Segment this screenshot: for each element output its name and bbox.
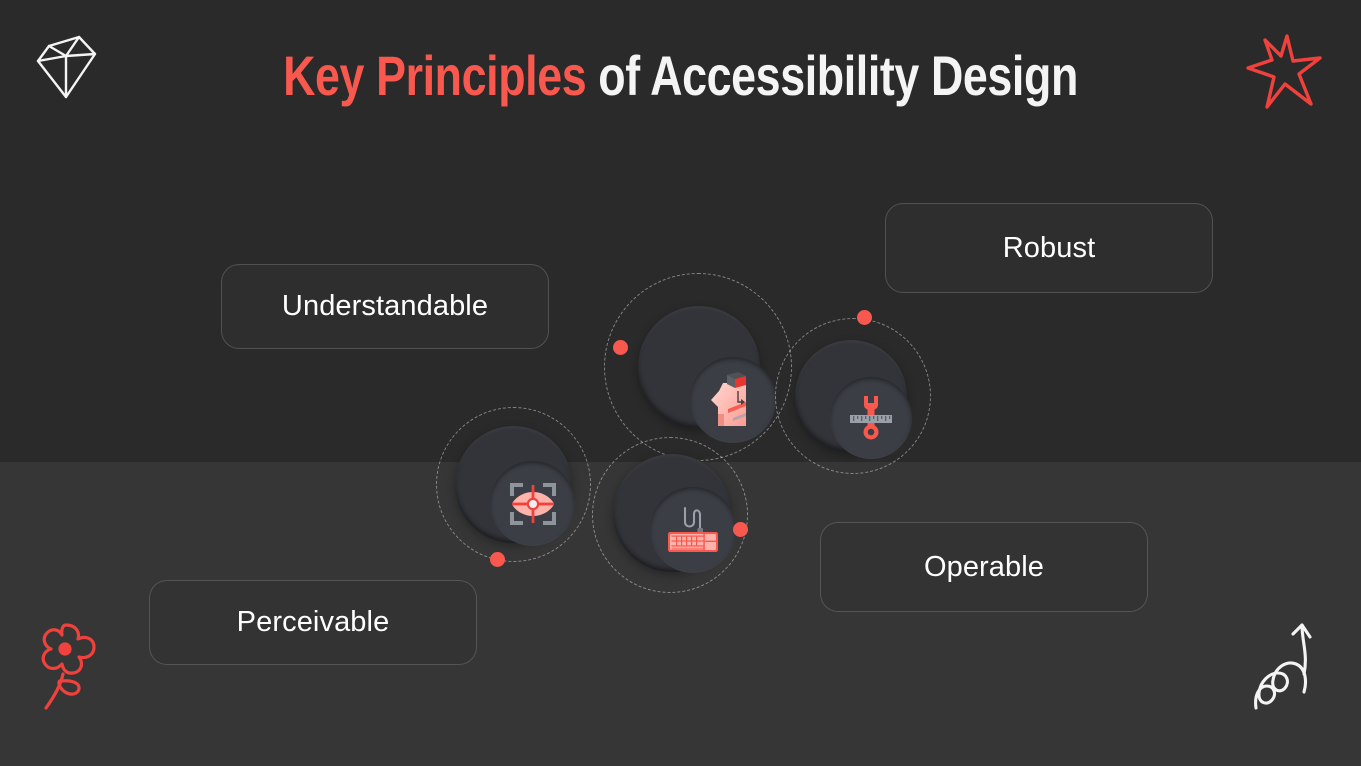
principle-card-robust[interactable]: Robust [885,203,1213,293]
principle-card-operable[interactable]: Operable [820,522,1148,612]
accent-dot [733,522,748,537]
flower-icon [30,618,102,714]
badge-inner-disc [650,487,736,573]
eye-with-crosshair-icon [507,480,559,528]
principle-badge-operable[interactable] [592,437,748,593]
badge-inner-disc [490,461,575,546]
principle-badge-perceivable[interactable] [436,407,591,562]
principle-card-label: Operable [924,551,1044,584]
accent-dot [490,552,505,567]
principle-badge-robust[interactable] [775,318,931,474]
diamond-icon [32,30,102,102]
principle-card-label: Robust [1003,232,1096,265]
page-title-plain: of Accessibility Design [586,44,1078,107]
badge-outer-disc [613,454,731,572]
badge-inner-disc [690,357,776,443]
slide-canvas: Key Principles of Accessibility Design [0,0,1361,766]
badge-outer-disc [638,306,760,428]
wrench-and-ruler-icon [846,393,896,443]
badge-inner-disc [830,377,912,459]
principle-card-label: Understandable [282,290,488,323]
head-with-cube-icon [706,371,760,429]
badge-outer-disc [455,426,572,543]
principle-card-understandable[interactable]: Understandable [221,264,549,349]
page-title: Key Principles of Accessibility Design [136,44,1225,108]
page-title-accent: Key Principles [283,44,586,107]
principle-card-perceivable[interactable]: Perceivable [149,580,477,665]
accent-dot [613,340,628,355]
keyboard-icon [665,503,721,557]
curly-arrow-icon [1248,620,1322,712]
star-icon [1243,28,1325,113]
principle-badge-understandable[interactable] [604,273,792,461]
accent-dot [857,310,872,325]
principle-card-label: Perceivable [237,606,390,639]
badge-outer-disc [795,340,907,452]
